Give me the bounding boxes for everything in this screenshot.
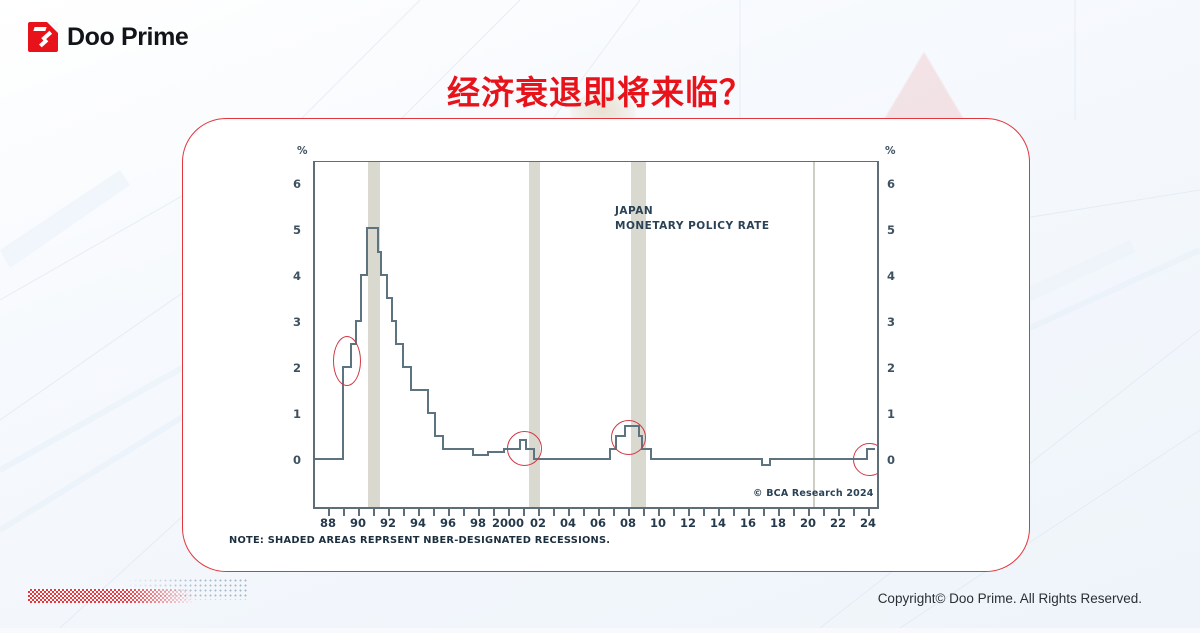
x-label-1996: 96 bbox=[440, 516, 456, 530]
y-axis-unit-right: % bbox=[885, 145, 896, 157]
x-tick-2011 bbox=[673, 509, 675, 516]
y-label-right-6: 6 bbox=[887, 177, 895, 191]
x-label-1994: 94 bbox=[410, 516, 426, 530]
x-label-2006: 06 bbox=[590, 516, 606, 530]
series-label-line2: MONETARY POLICY RATE bbox=[615, 219, 770, 234]
x-tick-1992 bbox=[388, 509, 390, 516]
y-label-right-5: 5 bbox=[887, 223, 895, 237]
x-tick-1993 bbox=[403, 509, 405, 516]
chart-card: % % 6 5 4 3 2 1 0 6 5 4 3 2 1 0 bbox=[182, 118, 1030, 572]
x-tick-2000 bbox=[508, 509, 510, 516]
x-tick-1998 bbox=[478, 509, 480, 516]
x-tick-1988 bbox=[328, 509, 330, 516]
annotation-hike-2000 bbox=[507, 431, 542, 466]
doo-prime-logo-icon bbox=[28, 22, 58, 52]
x-tick-2007 bbox=[613, 509, 615, 516]
x-tick-2017 bbox=[763, 509, 765, 516]
x-tick-1997 bbox=[463, 509, 465, 516]
y-label-left-4: 4 bbox=[293, 269, 301, 283]
x-label-1998: 98 bbox=[470, 516, 486, 530]
footer-copyright: Copyright© Doo Prime. All Rights Reserve… bbox=[878, 591, 1142, 606]
x-tick-2021 bbox=[823, 509, 825, 516]
x-tick-2008 bbox=[628, 509, 630, 516]
x-label-1988: 88 bbox=[320, 516, 336, 530]
x-tick-2006 bbox=[598, 509, 600, 516]
x-tick-1994 bbox=[418, 509, 420, 516]
x-tick-2020 bbox=[808, 509, 810, 516]
x-label-2012: 12 bbox=[680, 516, 696, 530]
footer-decoration bbox=[28, 578, 248, 608]
x-tick-2019 bbox=[793, 509, 795, 516]
series-label: JAPAN MONETARY POLICY RATE bbox=[615, 204, 770, 234]
x-label-2002: 02 bbox=[530, 516, 546, 530]
plot-frame: JAPAN MONETARY POLICY RATE © BCA Researc… bbox=[313, 161, 879, 509]
y-label-left-3: 3 bbox=[293, 315, 301, 329]
y-label-left-5: 5 bbox=[293, 223, 301, 237]
x-tick-2014 bbox=[718, 509, 720, 516]
brand-name: Doo Prime bbox=[67, 23, 188, 52]
y-label-right-4: 4 bbox=[887, 269, 895, 283]
x-tick-1995 bbox=[433, 509, 435, 516]
x-tick-1996 bbox=[448, 509, 450, 516]
x-label-2016: 16 bbox=[740, 516, 756, 530]
x-tick-2012 bbox=[688, 509, 690, 516]
x-tick-2015 bbox=[733, 509, 735, 516]
x-label-2004: 04 bbox=[560, 516, 576, 530]
x-label-2010: 10 bbox=[650, 516, 666, 530]
x-tick-2013 bbox=[703, 509, 705, 516]
series-label-line1: JAPAN bbox=[615, 204, 770, 219]
y-axis-unit-left: % bbox=[297, 145, 308, 157]
x-tick-2024 bbox=[868, 509, 870, 516]
x-tick-2023 bbox=[853, 509, 855, 516]
y-label-right-1: 1 bbox=[887, 407, 895, 421]
x-tick-1991 bbox=[373, 509, 375, 516]
chart-note: NOTE: SHADED AREAS REPRSENT NBER-DESIGNA… bbox=[229, 535, 610, 546]
x-label-2014: 14 bbox=[710, 516, 726, 530]
annotation-hike-2006 bbox=[611, 420, 646, 455]
y-label-left-1: 1 bbox=[293, 407, 301, 421]
x-tick-2001 bbox=[523, 509, 525, 516]
x-tick-1990 bbox=[358, 509, 360, 516]
x-label-2008: 08 bbox=[620, 516, 636, 530]
y-label-right-3: 3 bbox=[887, 315, 895, 329]
x-tick-2005 bbox=[583, 509, 585, 516]
x-tick-2003 bbox=[553, 509, 555, 516]
chart-credit: © BCA Research 2024 bbox=[753, 488, 874, 499]
page-title: 经济衰退即将来临？ bbox=[0, 66, 1200, 114]
x-tick-2016 bbox=[748, 509, 750, 516]
x-tick-2022 bbox=[838, 509, 840, 516]
x-tick-2010 bbox=[658, 509, 660, 516]
x-tick-2009 bbox=[643, 509, 645, 516]
x-label-1992: 92 bbox=[380, 516, 396, 530]
chart-area: % % 6 5 4 3 2 1 0 6 5 4 3 2 1 0 bbox=[225, 135, 985, 555]
y-label-left-0: 0 bbox=[293, 453, 301, 467]
x-label-1990: 90 bbox=[350, 516, 366, 530]
x-tick-2004 bbox=[568, 509, 570, 516]
y-label-left-2: 2 bbox=[293, 361, 301, 375]
x-label-2000: 2000 bbox=[492, 516, 524, 530]
y-label-right-0: 0 bbox=[887, 453, 895, 467]
x-label-2022: 22 bbox=[830, 516, 846, 530]
x-tick-1989 bbox=[343, 509, 345, 516]
brand-header: Doo Prime bbox=[28, 22, 188, 52]
y-label-right-2: 2 bbox=[887, 361, 895, 375]
y-label-left-6: 6 bbox=[293, 177, 301, 191]
annotation-hike-2024 bbox=[853, 443, 879, 476]
x-tick-2018 bbox=[778, 509, 780, 516]
x-label-2024: 24 bbox=[860, 516, 876, 530]
policy-rate-line bbox=[315, 162, 879, 509]
x-tick-2002 bbox=[538, 509, 540, 516]
x-tick-1999 bbox=[493, 509, 495, 516]
x-label-2018: 18 bbox=[770, 516, 786, 530]
x-label-2020: 20 bbox=[800, 516, 816, 530]
footer-red-pattern bbox=[28, 589, 193, 603]
annotation-first-hike-1989 bbox=[333, 336, 361, 386]
